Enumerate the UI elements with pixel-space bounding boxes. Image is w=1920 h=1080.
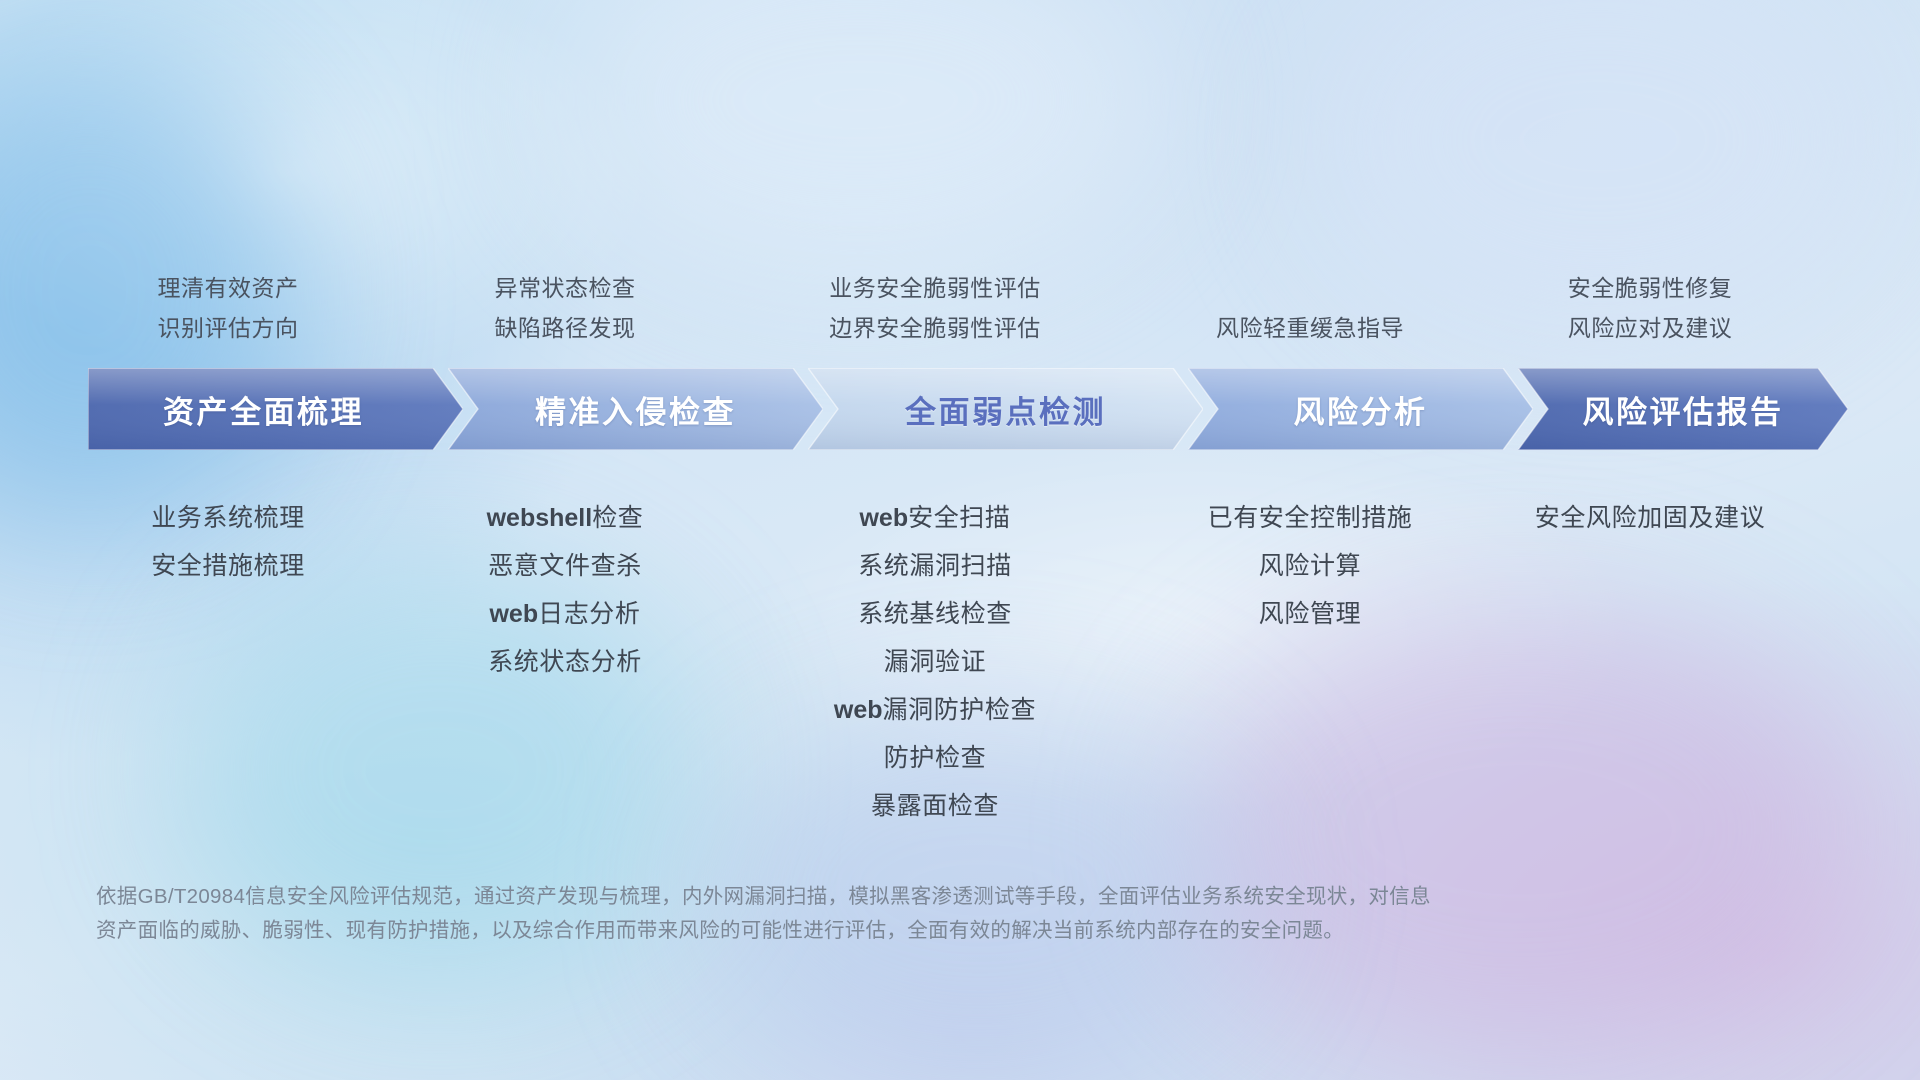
top-annotations-row: 理清有效资产识别评估方向异常状态检查缺陷路径发现业务安全脆弱性评估边界安全脆弱性…	[0, 228, 1920, 348]
bullet-latin-part: web	[489, 600, 538, 628]
bullet-text-part: 安全扫描	[908, 504, 1010, 532]
bullet-item: 防护检查	[675, 734, 1195, 782]
bullet-text-part: 系统基线检查	[858, 600, 1012, 628]
bullet-list: 安全风险加固及建议	[1390, 494, 1910, 542]
note-item: 风险应对及建议	[1390, 308, 1910, 348]
bullet-text-part: 风险计算	[1259, 552, 1361, 580]
chevron-label: 精准入侵检查	[535, 387, 736, 432]
bullet-latin-part: web	[834, 696, 883, 724]
bullet-text-part: 漏洞防护检查	[883, 696, 1037, 724]
bullet-item: 暴露面检查	[675, 782, 1195, 830]
bullet-item: 安全风险加固及建议	[1390, 494, 1910, 542]
bullet-text-part: 风险管理	[1259, 600, 1361, 628]
stage-top-notes-risk-report: 安全脆弱性修复风险应对及建议	[1390, 228, 1910, 348]
bullet-text-part: 漏洞验证	[884, 648, 986, 676]
bullet-text-part: 恶意文件查杀	[488, 552, 642, 580]
chevron-stage-risk-analysis[interactable]: 风险分析	[1188, 368, 1533, 450]
bullet-text-part: 暴露面检查	[871, 792, 999, 820]
chevron-stage-risk-report[interactable]: 风险评估报告	[1518, 368, 1848, 450]
chevron-stage-weakness-detection[interactable]: 全面弱点检测	[808, 368, 1203, 450]
footer-line-1: 依据GB/T20984信息安全风险评估规范，通过资产发现与梳理，内外网漏洞扫描，…	[96, 880, 1656, 914]
bullet-item: web漏洞防护检查	[675, 686, 1195, 734]
chevron-label: 风险分析	[1294, 387, 1428, 432]
bullet-text-part: 已有安全控制措施	[1208, 504, 1413, 532]
bullet-latin-part: webshell	[487, 504, 593, 532]
chevron-band: 资产全面梳理精准入侵检查全面弱点检测风险分析风险评估报告	[88, 368, 1848, 450]
chevron-label: 风险评估报告	[1583, 387, 1784, 432]
footer-line-2: 资产面临的威胁、脆弱性、现有防护措施，以及综合作用而带来风险的可能性进行评估，全…	[96, 914, 1656, 948]
chevron-stage-intrusion-check[interactable]: 精准入侵检查	[448, 368, 823, 450]
bullet-item: 风险计算	[1050, 542, 1570, 590]
bullet-text-part: 安全风险加固及建议	[1535, 504, 1765, 532]
slide-canvas: 理清有效资产识别评估方向异常状态检查缺陷路径发现业务安全脆弱性评估边界安全脆弱性…	[0, 0, 1920, 1080]
chevron-stage-asset-inventory[interactable]: 资产全面梳理	[88, 368, 463, 450]
bullet-text-part: 系统状态分析	[488, 648, 642, 676]
bullet-text-part: 系统漏洞扫描	[858, 552, 1012, 580]
bullet-text-part: 检查	[592, 504, 643, 532]
stage-bullets-risk-report: 安全风险加固及建议	[1390, 494, 1910, 542]
footer-description: 依据GB/T20984信息安全风险评估规范，通过资产发现与梳理，内外网漏洞扫描，…	[96, 880, 1656, 948]
chevron-label: 全面弱点检测	[905, 387, 1106, 432]
bullet-latin-part: web	[859, 504, 908, 532]
bullet-item: 风险管理	[1050, 590, 1570, 638]
note-list: 安全脆弱性修复风险应对及建议	[1390, 268, 1910, 348]
bullet-text-part: 业务系统梳理	[151, 504, 305, 532]
bullet-text-part: 安全措施梳理	[151, 552, 305, 580]
bullet-item: 漏洞验证	[675, 638, 1195, 686]
bullet-text-part: 防护检查	[884, 744, 986, 772]
bullet-text-part: 日志分析	[538, 600, 640, 628]
note-item: 安全脆弱性修复	[1390, 268, 1910, 308]
chevron-label: 资产全面梳理	[163, 387, 364, 432]
